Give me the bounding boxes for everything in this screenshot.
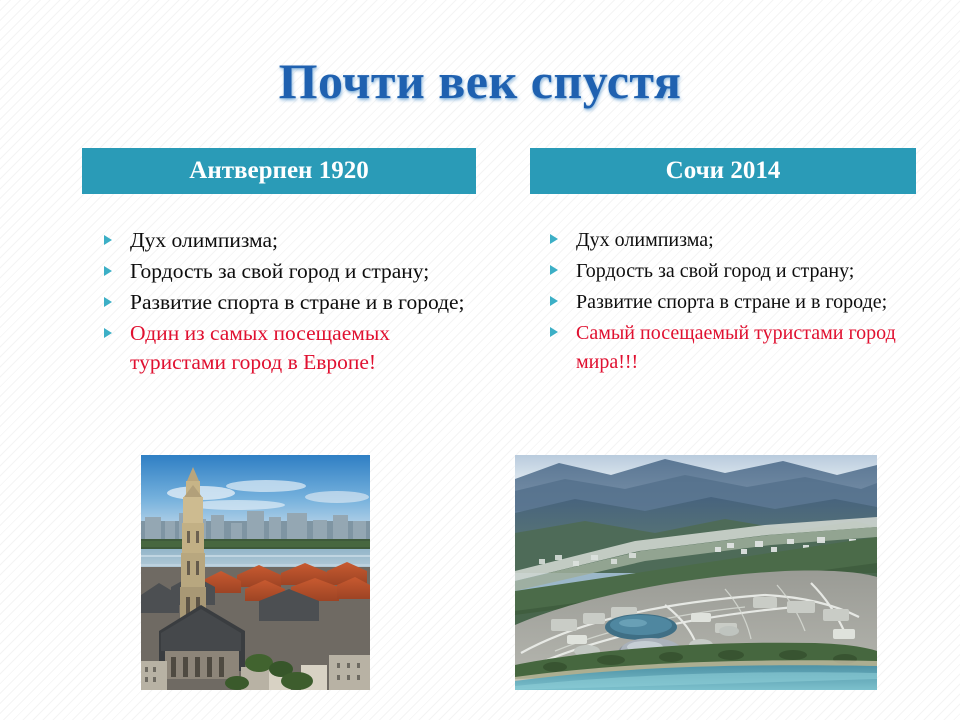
list-item-text: Развитие спорта в стране и в городе; — [576, 291, 887, 313]
list-item: Дух олимпизма; — [96, 226, 476, 255]
bullet-list-antwerp: Дух олимпизма; Гордость за свой город и … — [82, 226, 476, 377]
list-item-highlighted: Один из самых посещаемых туристами город… — [96, 319, 476, 377]
list-item-text: Один из самых посещаемых туристами город… — [130, 321, 390, 374]
list-item-text: Самый посещаемый туристами город мира!!! — [576, 322, 896, 373]
bullet-list-sochi: Дух олимпизма; Гордость за свой город и … — [530, 226, 916, 377]
list-item-highlighted: Самый посещаемый туристами город мира!!! — [542, 319, 916, 377]
triangle-right-icon — [104, 235, 112, 245]
slide-root: Почти век спустя Антверпен 1920 Дух олим… — [0, 0, 960, 720]
list-item: Гордость за свой город и страну; — [542, 257, 916, 286]
triangle-right-icon — [550, 327, 558, 337]
triangle-right-icon — [550, 234, 558, 244]
page-title: Почти век спустя — [0, 52, 960, 110]
column-sochi: Сочи 2014 Дух олимпизма; Гордость за сво… — [530, 148, 916, 379]
list-item: Развитие спорта в стране и в городе; — [542, 288, 916, 317]
list-item: Дух олимпизма; — [542, 226, 916, 255]
column-header-antwerp: Антверпен 1920 — [82, 148, 476, 194]
list-item-text: Развитие спорта в стране и в городе; — [130, 290, 465, 314]
list-item-text: Дух олимпизма; — [576, 229, 714, 251]
column-header-sochi: Сочи 2014 — [530, 148, 916, 194]
triangle-right-icon — [104, 297, 112, 307]
triangle-right-icon — [104, 266, 112, 276]
antwerp-cityscape-photo — [141, 455, 370, 690]
list-item-text: Гордость за свой город и страну; — [130, 259, 429, 283]
triangle-right-icon — [550, 296, 558, 306]
column-antwerp: Антверпен 1920 Дух олимпизма; Гордость з… — [82, 148, 476, 379]
sochi-olympic-park-photo — [515, 455, 877, 690]
list-item: Развитие спорта в стране и в городе; — [96, 288, 476, 317]
triangle-right-icon — [550, 265, 558, 275]
triangle-right-icon — [104, 328, 112, 338]
list-item-text: Гордость за свой город и страну; — [576, 260, 854, 282]
list-item-text: Дух олимпизма; — [130, 228, 278, 252]
list-item: Гордость за свой город и страну; — [96, 257, 476, 286]
